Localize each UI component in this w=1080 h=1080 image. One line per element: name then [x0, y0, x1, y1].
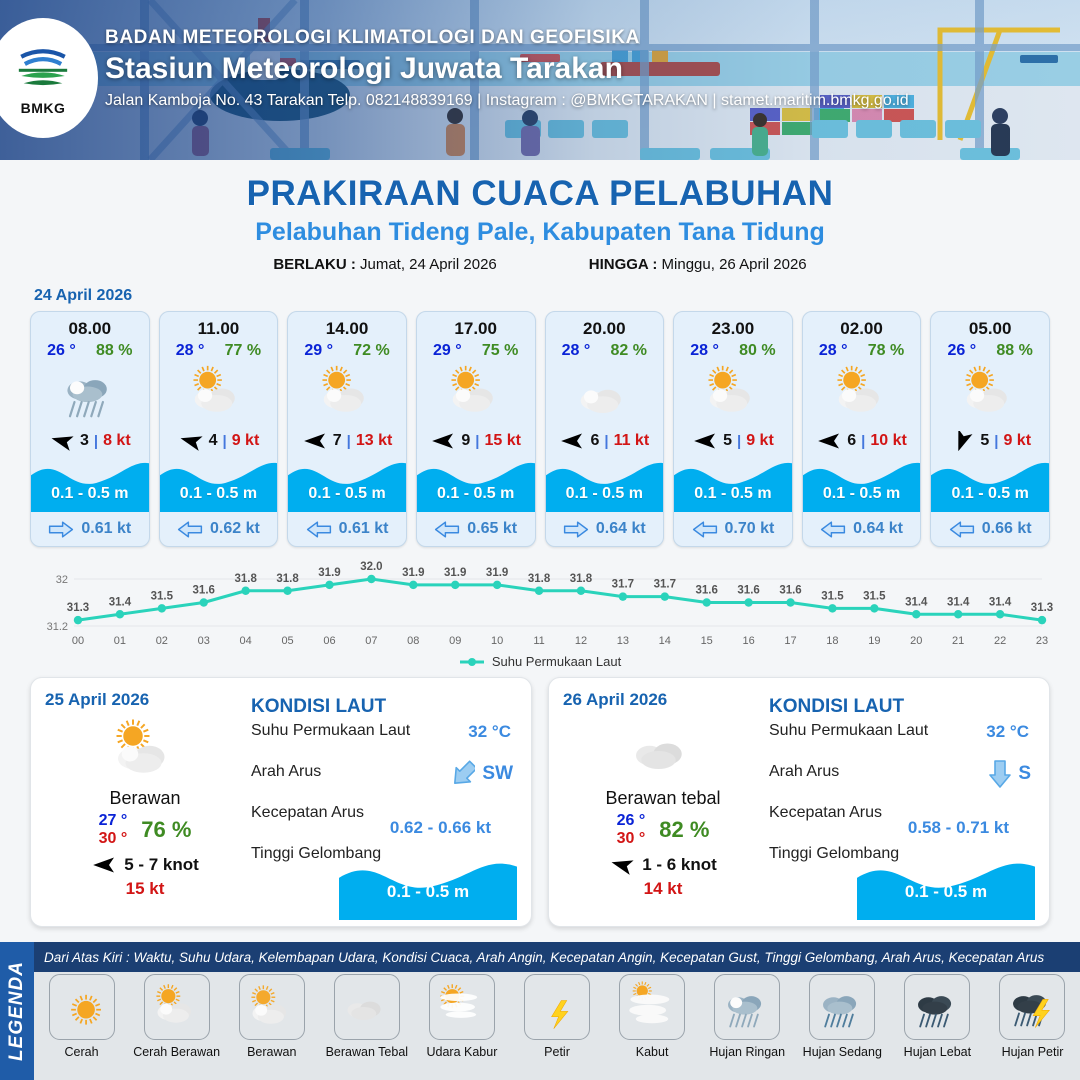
valid-until-value: Minggu, 26 April 2026: [662, 256, 807, 273]
card-time: 20.00: [546, 312, 664, 339]
svg-text:32.0: 32.0: [360, 561, 382, 573]
svg-text:31.8: 31.8: [570, 573, 593, 585]
current-direction-icon: [177, 520, 203, 539]
card-current: 0.64 kt: [803, 512, 921, 546]
daily-date: 26 April 2026: [563, 690, 763, 710]
card-separator: |: [475, 433, 479, 450]
legend-item: Hujan Sedang: [795, 974, 890, 1059]
svg-text:31.4: 31.4: [905, 596, 928, 608]
card-wave-height: 0.1 - 0.5 m: [803, 485, 921, 503]
legend-item: Berawan: [224, 974, 319, 1059]
svg-text:06: 06: [323, 635, 335, 647]
header-org-name: BADAN METEOROLOGI KLIMATOLOGI DAN GEOFIS…: [105, 27, 909, 49]
legend-icon-box: [809, 974, 875, 1040]
card-gust: 13 kt: [356, 432, 392, 450]
current-direction-icon: [820, 520, 846, 539]
current-speed-row: Kecepatan Arus 0.58 - 0.71 kt: [769, 804, 1035, 845]
sun-cloud-icon: [151, 981, 203, 1033]
svg-text:31.9: 31.9: [402, 567, 424, 579]
card-weather-icon: [546, 360, 664, 426]
header-contact-info: Jalan Kamboja No. 43 Tarakan Telp. 08214…: [105, 92, 909, 110]
legend-item-label: Hujan Sedang: [803, 1045, 882, 1059]
daily-temp-min: 27 °: [99, 812, 128, 830]
svg-text:15: 15: [701, 635, 713, 647]
current-speed-value: 0.58 - 0.71 kt: [908, 818, 1009, 838]
card-current: 0.66 kt: [931, 512, 1049, 546]
wind-direction-icon: [949, 431, 975, 451]
hourly-forecast-card: 05.00 26 ° 88 % 5 | 9 kt 0.1 - 0.5 m 0.6…: [930, 311, 1050, 547]
legend-item-label: Petir: [544, 1045, 570, 1059]
current-direction-icon: [949, 520, 975, 539]
card-humidity: 88 %: [996, 342, 1032, 360]
card-current-speed: 0.64 kt: [853, 520, 903, 538]
hourly-forecast-card: 23.00 28 ° 80 % 5 | 9 kt 0.1 - 0.5 m 0.7…: [673, 311, 793, 547]
card-temperature: 28 °: [819, 342, 848, 360]
svg-text:31.6: 31.6: [696, 585, 718, 597]
daily-forecast-panel: 25 April 2026 Berawan 27 ° 30 ° 76 % 5 -…: [30, 677, 532, 927]
current-direction-row: Arah Arus S: [769, 763, 1035, 804]
wind-direction-icon: [559, 431, 585, 451]
card-time: 23.00: [674, 312, 792, 339]
card-current: 0.61 kt: [288, 512, 406, 546]
daily-wind: 5 - 7 knot: [45, 855, 245, 875]
current-direction-label: Arah Arus: [251, 763, 321, 780]
wind-direction-icon: [302, 431, 328, 451]
legend-item-label: Berawan: [247, 1045, 296, 1059]
card-separator: |: [604, 433, 608, 450]
card-gust: 9 kt: [1003, 432, 1031, 450]
card-current: 0.61 kt: [31, 512, 149, 546]
card-time: 17.00: [417, 312, 535, 339]
legend-item-label: Kabut: [636, 1045, 669, 1059]
rain-heavy-icon: [911, 981, 963, 1033]
current-direction-icon: [692, 520, 718, 539]
legend-section: LEGENDA Dari Atas Kiri : Waktu, Suhu Uda…: [0, 942, 1080, 1080]
svg-text:31.6: 31.6: [779, 585, 801, 597]
daily-temp-max: 30 °: [99, 830, 128, 848]
svg-text:13: 13: [617, 635, 629, 647]
svg-text:22: 22: [994, 635, 1006, 647]
title-section: PRAKIRAAN CUACA PELABUHAN Pelabuhan Tide…: [0, 160, 1080, 273]
sun-cloud-icon: [959, 362, 1021, 424]
card-weather-icon: [288, 360, 406, 426]
chart-legend-label: Suhu Permukaan Laut: [492, 654, 621, 669]
wind-direction-icon: [609, 855, 635, 875]
svg-text:01: 01: [114, 635, 126, 647]
card-temperature: 26 °: [47, 342, 76, 360]
wind-direction-icon: [91, 855, 117, 875]
hourly-forecast-card: 14.00 29 ° 72 % 7 | 13 kt 0.1 - 0.5 m 0.…: [287, 311, 407, 547]
card-wave: 0.1 - 0.5 m: [931, 458, 1049, 512]
card-wind: 5 | 9 kt: [674, 426, 792, 456]
legend-item: Kabut: [605, 974, 700, 1059]
sst-value: 32 °C: [986, 722, 1029, 742]
legend-item-label: Udara Kabur: [426, 1045, 497, 1059]
card-wave-height: 0.1 - 0.5 m: [160, 485, 278, 503]
rain-moderate-icon: [816, 981, 868, 1033]
sun-cloud-icon: [702, 362, 764, 424]
card-separator: |: [861, 433, 865, 450]
legend-item-label: Cerah Berawan: [133, 1045, 220, 1059]
bmkg-logo-mark: [12, 41, 74, 99]
svg-text:31.9: 31.9: [486, 567, 508, 579]
legend-icon-box: [524, 974, 590, 1040]
daily-wave-value: 0.1 - 0.5 m: [857, 882, 1035, 902]
current-direction-value: S: [1018, 763, 1031, 785]
card-humidity: 77 %: [225, 342, 261, 360]
wind-direction-icon: [49, 431, 75, 451]
card-wind-speed: 6: [590, 432, 599, 450]
card-humidity: 72 %: [353, 342, 389, 360]
card-temperature: 28 °: [176, 342, 205, 360]
card-separator: |: [347, 433, 351, 450]
svg-text:31.8: 31.8: [234, 573, 257, 585]
daily-wind-range: 5 - 7 knot: [124, 855, 199, 875]
card-weather-icon: [674, 360, 792, 426]
svg-text:08: 08: [407, 635, 419, 647]
svg-text:18: 18: [826, 635, 838, 647]
hourly-forecast-card: 17.00 29 ° 75 % 9 | 15 kt 0.1 - 0.5 m 0.…: [416, 311, 536, 547]
svg-text:31.6: 31.6: [193, 585, 215, 597]
svg-text:17: 17: [784, 635, 796, 647]
daily-temps: 26 ° 30 ° 82 %: [563, 812, 763, 848]
cloud-thick-icon: [341, 981, 393, 1033]
svg-text:31.4: 31.4: [947, 596, 970, 608]
current-speed-row: Kecepatan Arus 0.62 - 0.66 kt: [251, 804, 517, 845]
legend-icon-box: [904, 974, 970, 1040]
valid-from-label: BERLAKU :: [273, 256, 356, 273]
card-weather-icon: [417, 360, 535, 426]
current-direction-icon: [434, 520, 460, 539]
current-direction-icon: [306, 520, 332, 539]
card-weather-icon: [160, 360, 278, 426]
card-wave-height: 0.1 - 0.5 m: [288, 485, 406, 503]
card-wind-speed: 5: [723, 432, 732, 450]
current-direction-row: Arah Arus SW: [251, 763, 517, 804]
card-current: 0.65 kt: [417, 512, 535, 546]
card-wave-height: 0.1 - 0.5 m: [417, 485, 535, 503]
legend-icon-box: [714, 974, 780, 1040]
svg-text:19: 19: [868, 635, 880, 647]
sst-row: Suhu Permukaan Laut 32 °C: [769, 722, 1035, 763]
hourly-forecast-card: 08.00 26 ° 88 % 3 | 8 kt 0.1 - 0.5 m 0.6…: [30, 311, 150, 547]
legend-icon-box: [144, 974, 210, 1040]
sea-conditions-title: KONDISI LAUT: [251, 696, 517, 718]
current-direction-icon: [453, 759, 475, 789]
card-temperature: 26 °: [948, 342, 977, 360]
svg-text:32: 32: [56, 574, 68, 586]
svg-text:05: 05: [281, 635, 293, 647]
card-wave: 0.1 - 0.5 m: [288, 458, 406, 512]
daily-wind-range: 1 - 6 knot: [642, 855, 717, 875]
card-weather-icon: [803, 360, 921, 426]
svg-text:31.5: 31.5: [151, 590, 174, 602]
card-humidity: 82 %: [611, 342, 647, 360]
card-temperature: 29 °: [433, 342, 462, 360]
hourly-forecast-list: 08.00 26 ° 88 % 3 | 8 kt 0.1 - 0.5 m 0.6…: [0, 311, 1080, 547]
card-current-speed: 0.65 kt: [467, 520, 517, 538]
daily-left: 26 April 2026 Berawan tebal 26 ° 30 ° 82…: [563, 690, 763, 914]
daily-gust: 14 kt: [563, 879, 763, 899]
sun-cloud-icon: [187, 362, 249, 424]
svg-text:31.4: 31.4: [989, 596, 1012, 608]
current-direction: S: [989, 759, 1031, 789]
cloud-thick-icon: [627, 715, 699, 787]
hourly-forecast-card: 20.00 28 ° 82 % 6 | 11 kt 0.1 - 0.5 m 0.…: [545, 311, 665, 547]
card-wave: 0.1 - 0.5 m: [674, 458, 792, 512]
card-wind-speed: 6: [847, 432, 856, 450]
bmkg-logo-text: BMKG: [21, 100, 66, 116]
legend-item-label: Berawan Tebal: [326, 1045, 408, 1059]
card-wave: 0.1 - 0.5 m: [417, 458, 535, 512]
current-direction-icon: [563, 520, 589, 539]
page-subtitle: Pelabuhan Tideng Pale, Kabupaten Tana Ti…: [0, 218, 1080, 247]
card-wind-speed: 4: [209, 432, 218, 450]
legend-item: Cerah: [34, 974, 129, 1059]
card-humidity: 88 %: [96, 342, 132, 360]
legend-item-label: Hujan Lebat: [904, 1045, 971, 1059]
svg-text:31.6: 31.6: [737, 585, 759, 597]
card-wave-height: 0.1 - 0.5 m: [931, 485, 1049, 503]
svg-text:03: 03: [198, 635, 210, 647]
daily-humidity: 76 %: [141, 817, 191, 843]
sst-label: Suhu Permukaan Laut: [769, 722, 928, 739]
card-wave-height: 0.1 - 0.5 m: [674, 485, 792, 503]
legend-item-label: Hujan Ringan: [709, 1045, 785, 1059]
svg-text:31.5: 31.5: [821, 590, 844, 602]
daily-weather-icon: [563, 716, 763, 786]
sst-row: Suhu Permukaan Laut 32 °C: [251, 722, 517, 763]
daily-sea-conditions: KONDISI LAUT Suhu Permukaan Laut 32 °C A…: [245, 690, 517, 914]
legend-item: Hujan Lebat: [890, 974, 985, 1059]
legend-items: Cerah Cerah Berawan Berawan Berawan Teba…: [34, 974, 1080, 1059]
card-gust: 9 kt: [232, 432, 260, 450]
sst-line-chart: 31.23231.30031.40131.50231.60331.80431.8…: [20, 557, 1060, 652]
card-time: 05.00: [931, 312, 1049, 339]
current-speed-label: Kecepatan Arus: [251, 804, 364, 821]
legend-item: Cerah Berawan: [129, 974, 224, 1059]
svg-text:16: 16: [742, 635, 754, 647]
sun-cloud-icon: [831, 362, 893, 424]
svg-text:10: 10: [491, 635, 503, 647]
svg-text:31.3: 31.3: [1031, 602, 1053, 614]
card-wave: 0.1 - 0.5 m: [546, 458, 664, 512]
daily-weather-icon: [45, 716, 245, 786]
card-weather-icon: [31, 360, 149, 426]
legend-marker-icon: [459, 657, 485, 667]
legend-icon-box: [334, 974, 400, 1040]
svg-text:11: 11: [533, 635, 544, 647]
legend-side-label: LEGENDA: [6, 961, 28, 1061]
card-temperature: 28 °: [562, 342, 591, 360]
current-direction-icon: [989, 759, 1011, 789]
legend-note: Dari Atas Kiri : Waktu, Suhu Udara, Kele…: [34, 942, 1080, 972]
cloud-sun-partial-icon: [246, 981, 298, 1033]
card-wave: 0.1 - 0.5 m: [803, 458, 921, 512]
sun-cloud-icon: [445, 362, 507, 424]
svg-text:21: 21: [952, 635, 964, 647]
svg-text:31.3: 31.3: [67, 602, 89, 614]
sst-value: 32 °C: [468, 722, 511, 742]
thunderstorm-icon: [1006, 981, 1058, 1033]
current-direction: SW: [453, 759, 513, 789]
wind-direction-icon: [692, 431, 718, 451]
card-wind-speed: 9: [461, 432, 470, 450]
current-direction-value: SW: [482, 763, 513, 785]
page-header: BMKG BADAN METEOROLOGI KLIMATOLOGI DAN G…: [0, 0, 1080, 160]
card-wave: 0.1 - 0.5 m: [31, 458, 149, 512]
card-separator: |: [94, 433, 98, 450]
svg-text:23: 23: [1036, 635, 1048, 647]
legend-icon-box: [429, 974, 495, 1040]
legend-icon-box: [239, 974, 305, 1040]
valid-from-value: Jumat, 24 April 2026: [360, 256, 497, 273]
sun-cloud-icon: [109, 715, 181, 787]
card-current-speed: 0.64 kt: [596, 520, 646, 538]
card-time: 14.00: [288, 312, 406, 339]
card-gust: 9 kt: [746, 432, 774, 450]
legend-item: Petir: [509, 974, 604, 1059]
sun-icon: [56, 981, 108, 1033]
hourly-forecast-card: 11.00 28 ° 77 % 4 | 9 kt 0.1 - 0.5 m 0.6…: [159, 311, 279, 547]
legend-icon-box: [999, 974, 1065, 1040]
card-separator: |: [994, 433, 998, 450]
card-current-speed: 0.61 kt: [81, 520, 131, 538]
sst-label: Suhu Permukaan Laut: [251, 722, 410, 739]
card-humidity: 78 %: [868, 342, 904, 360]
lightning-icon: [531, 981, 583, 1033]
legend-icon-box: [49, 974, 115, 1040]
svg-text:31.8: 31.8: [528, 573, 551, 585]
sea-conditions-title: KONDISI LAUT: [769, 696, 1035, 718]
card-wave: 0.1 - 0.5 m: [160, 458, 278, 512]
validity-range: BERLAKU : Jumat, 24 April 2026 HINGGA : …: [0, 256, 1080, 273]
fog-icon: [626, 981, 678, 1033]
sst-chart: 31.23231.30031.40131.50231.60331.80431.8…: [20, 557, 1060, 652]
sun-cloud-icon: [316, 362, 378, 424]
svg-text:12: 12: [575, 635, 587, 647]
daily-wave-value: 0.1 - 0.5 m: [339, 882, 517, 902]
card-current-speed: 0.62 kt: [210, 520, 260, 538]
card-humidity: 80 %: [739, 342, 775, 360]
daily-wind: 1 - 6 knot: [563, 855, 763, 875]
legend-item-label: Cerah: [65, 1045, 99, 1059]
card-wind-speed: 3: [80, 432, 89, 450]
svg-text:31.8: 31.8: [276, 573, 299, 585]
daily-temps: 27 ° 30 ° 76 %: [45, 812, 245, 848]
legend-item: Hujan Ringan: [700, 974, 795, 1059]
haze-icon: [436, 981, 488, 1033]
rain-light-icon: [721, 981, 773, 1033]
wind-direction-icon: [430, 431, 456, 451]
hourly-forecast-card: 02.00 28 ° 78 % 6 | 10 kt 0.1 - 0.5 m 0.…: [802, 311, 922, 547]
card-time: 11.00: [160, 312, 278, 339]
card-wind: 4 | 9 kt: [160, 426, 278, 456]
card-current: 0.62 kt: [160, 512, 278, 546]
current-speed-value: 0.62 - 0.66 kt: [390, 818, 491, 838]
card-wind: 5 | 9 kt: [931, 426, 1049, 456]
card-wind: 6 | 10 kt: [803, 426, 921, 456]
legend-side-banner: LEGENDA: [0, 942, 34, 1080]
daily-temp-max: 30 °: [617, 830, 646, 848]
card-current: 0.64 kt: [546, 512, 664, 546]
svg-text:00: 00: [72, 635, 84, 647]
daily-left: 25 April 2026 Berawan 27 ° 30 ° 76 % 5 -…: [45, 690, 245, 914]
svg-text:14: 14: [659, 635, 671, 647]
daily-condition: Berawan tebal: [563, 788, 763, 809]
svg-text:31.4: 31.4: [109, 596, 132, 608]
card-wind: 3 | 8 kt: [31, 426, 149, 456]
legend-item-label: Hujan Petir: [1002, 1045, 1064, 1059]
svg-text:31.7: 31.7: [654, 579, 676, 591]
svg-text:31.9: 31.9: [444, 567, 466, 579]
card-wind-speed: 5: [980, 432, 989, 450]
card-weather-icon: [931, 360, 1049, 426]
current-direction-icon: [48, 520, 74, 539]
svg-text:31.2: 31.2: [47, 621, 68, 633]
card-wave-height: 0.1 - 0.5 m: [546, 485, 664, 503]
legend-item: Berawan Tebal: [319, 974, 414, 1059]
svg-text:31.5: 31.5: [863, 590, 886, 602]
card-wave-height: 0.1 - 0.5 m: [31, 485, 149, 503]
daily-condition: Berawan: [45, 788, 245, 809]
daily-gust: 15 kt: [45, 879, 245, 899]
header-station-name: Stasiun Meteorologi Juwata Tarakan: [105, 52, 909, 86]
chart-legend: Suhu Permukaan Laut: [0, 654, 1080, 669]
card-wind: 9 | 15 kt: [417, 426, 535, 456]
svg-text:31.9: 31.9: [318, 567, 340, 579]
card-current-speed: 0.61 kt: [339, 520, 389, 538]
svg-text:09: 09: [449, 635, 461, 647]
wind-direction-icon: [178, 431, 204, 451]
legend-item: Hujan Petir: [985, 974, 1080, 1059]
card-time: 02.00: [803, 312, 921, 339]
card-wind-speed: 7: [333, 432, 342, 450]
card-humidity: 75 %: [482, 342, 518, 360]
legend-item: Udara Kabur: [414, 974, 509, 1059]
svg-text:04: 04: [240, 635, 252, 647]
wind-direction-icon: [816, 431, 842, 451]
current-speed-label: Kecepatan Arus: [769, 804, 882, 821]
card-wind: 6 | 11 kt: [546, 426, 664, 456]
daily-date: 25 April 2026: [45, 690, 245, 710]
svg-text:20: 20: [910, 635, 922, 647]
card-gust: 11 kt: [614, 432, 650, 450]
card-gust: 8 kt: [103, 432, 131, 450]
card-current: 0.70 kt: [674, 512, 792, 546]
svg-text:02: 02: [156, 635, 168, 647]
cloud-icon: [573, 362, 635, 424]
svg-text:31.7: 31.7: [612, 579, 634, 591]
valid-until-label: HINGGA :: [589, 256, 658, 273]
current-direction-label: Arah Arus: [769, 763, 839, 780]
card-gust: 15 kt: [485, 432, 521, 450]
card-temperature: 29 °: [304, 342, 333, 360]
card-wind: 7 | 13 kt: [288, 426, 406, 456]
rain-light-icon: [59, 362, 121, 424]
daily-forecast-panel: 26 April 2026 Berawan tebal 26 ° 30 ° 82…: [548, 677, 1050, 927]
daily-temp-min: 26 °: [617, 812, 646, 830]
daily-forecast-panels: 25 April 2026 Berawan 27 ° 30 ° 76 % 5 -…: [0, 669, 1080, 927]
card-time: 08.00: [31, 312, 149, 339]
valid-from: BERLAKU : Jumat, 24 April 2026: [273, 256, 496, 273]
valid-until: HINGGA : Minggu, 26 April 2026: [589, 256, 807, 273]
card-current-speed: 0.70 kt: [725, 520, 775, 538]
daily-sea-conditions: KONDISI LAUT Suhu Permukaan Laut 32 °C A…: [763, 690, 1035, 914]
card-separator: |: [737, 433, 741, 450]
daily-humidity: 82 %: [659, 817, 709, 843]
card-current-speed: 0.66 kt: [982, 520, 1032, 538]
